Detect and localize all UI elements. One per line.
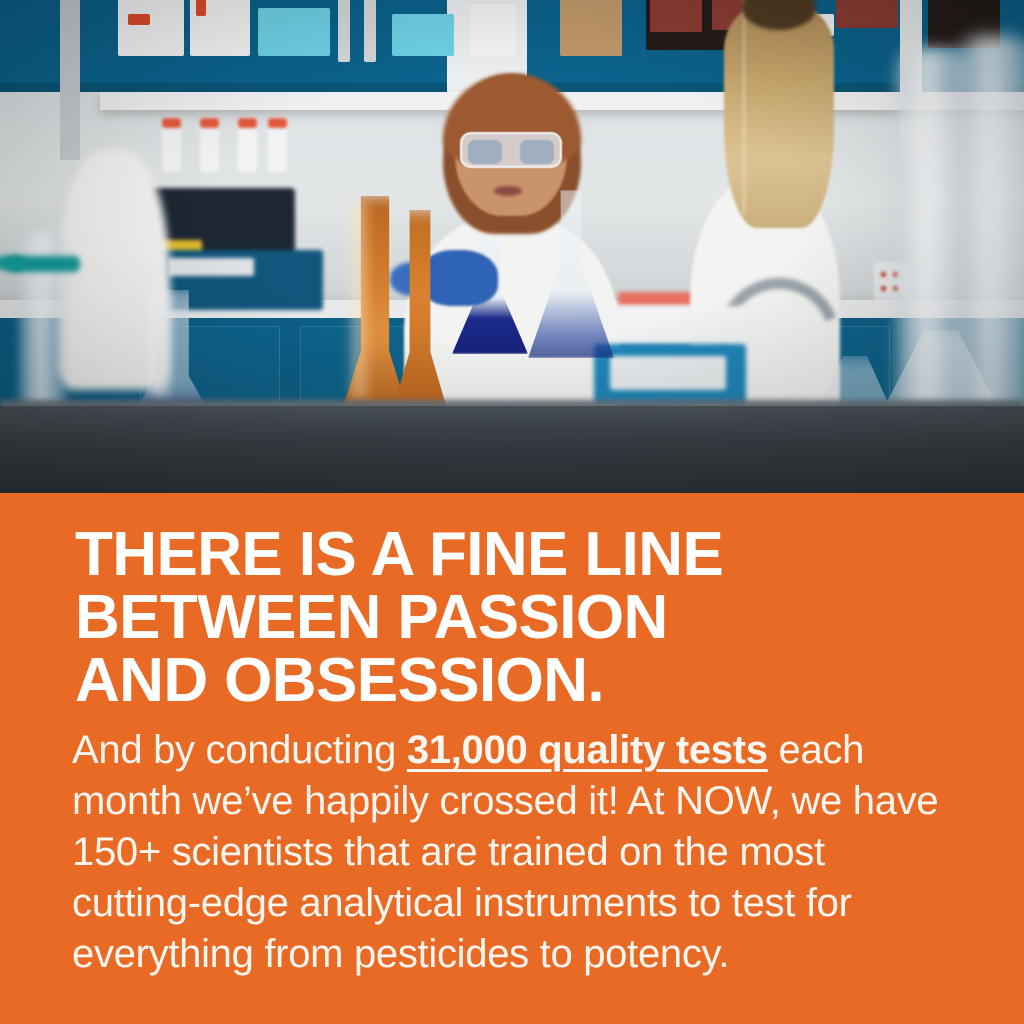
shelf-label-red-1 (128, 14, 150, 25)
headline: THERE IS A FINE LINE BETWEEN PASSION AND… (75, 523, 975, 712)
analytical-balance-display (610, 356, 726, 390)
test-tube-cap-3 (238, 118, 257, 128)
body-text-before: And by conducting (72, 728, 407, 772)
shelf-box-kraft (560, 0, 622, 56)
shelf-pipe-1 (338, 0, 350, 62)
scientist-center-mouth (494, 186, 522, 196)
test-tube-cap-4 (268, 118, 287, 128)
headline-line-2: BETWEEN PASSION (75, 586, 975, 649)
door-frame-left (60, 0, 80, 160)
shelf-pipe-2 (364, 0, 376, 62)
gloved-hand-blue (420, 250, 498, 306)
quality-tests-highlight: 31,000 quality tests (407, 728, 768, 772)
test-tube-cap-2 (200, 118, 219, 128)
safety-goggles-icon (460, 132, 562, 168)
shelf-bin-maroon-3 (836, 0, 898, 28)
scientist-right-hair (724, 0, 834, 228)
shelf-box-white-1 (118, 0, 184, 56)
headline-line-3: AND OBSESSION. (75, 649, 975, 712)
shelf-bottle-cyan-1 (258, 8, 330, 56)
amber-flask-highlight (352, 200, 366, 400)
shelf-label-red-2 (196, 0, 206, 16)
shelf-bottle-white-1 (470, 4, 516, 56)
shelf-bin-maroon-1 (650, 0, 702, 32)
headline-line-1: THERE IS A FINE LINE (75, 523, 975, 586)
pipette-teal-band-2 (0, 256, 24, 270)
poster-canvas: 500 THERE IS A FINE LINE BETWEEN PASSION… (0, 0, 1024, 1024)
shelf-bottle-cyan-2 (392, 14, 454, 56)
body-copy: And by conducting 31,000 quality tests e… (72, 725, 952, 980)
front-bench-surface (0, 406, 1024, 493)
hotplate-display (168, 258, 254, 276)
laboratory-photo: 500 (0, 0, 1024, 493)
flask-neck-highlight (150, 288, 170, 398)
orange-text-panel: THERE IS A FINE LINE BETWEEN PASSION AND… (0, 493, 1024, 1024)
test-tube-cap-1 (162, 118, 181, 128)
